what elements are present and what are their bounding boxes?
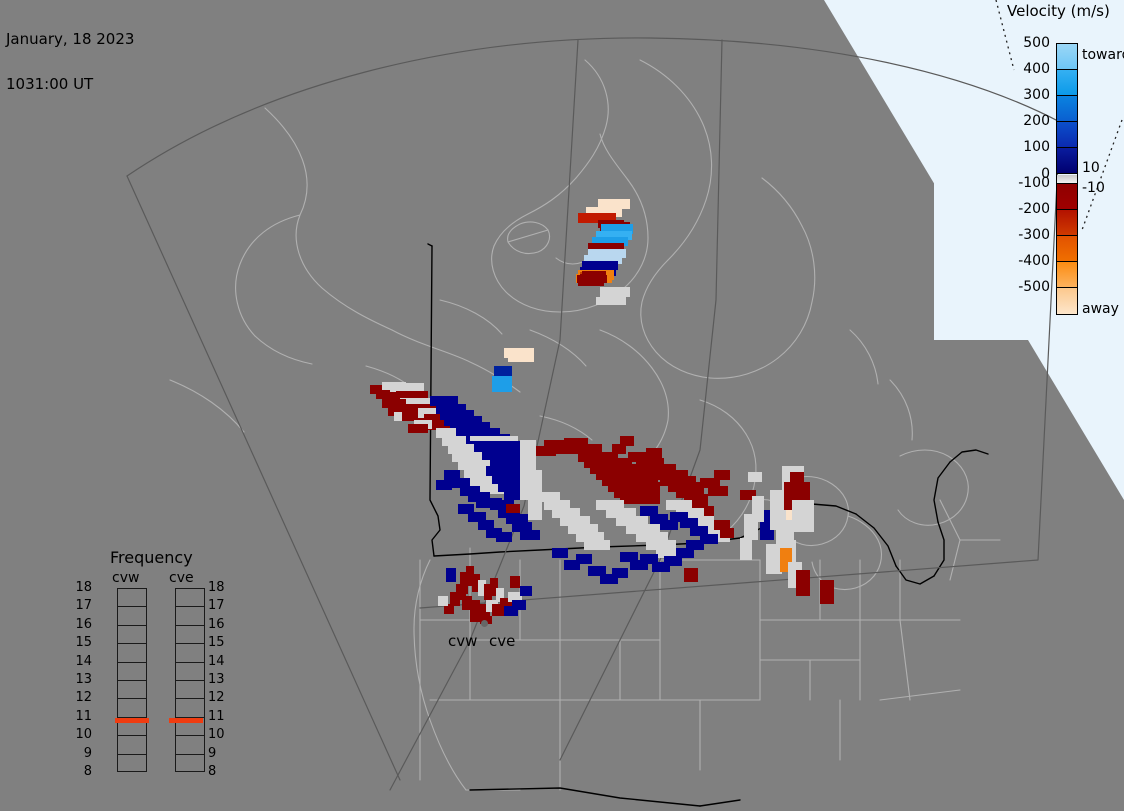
radar-velocity-cells: [0, 0, 1124, 811]
velocity-cell: [552, 548, 568, 558]
velocity-cell: [820, 580, 834, 604]
timestamp-block: January, 18 2023 1031:00 UT: [6, 2, 134, 122]
velocity-cell: [600, 287, 630, 297]
colorbar-segment: [1057, 175, 1077, 184]
frequency-scale-divider: [118, 698, 146, 699]
frequency-tick-label: 13: [208, 672, 236, 687]
velocity-cell: [708, 486, 728, 496]
colorbar-segment: [1057, 148, 1077, 174]
colorbar-tick: -300: [1000, 227, 1050, 243]
velocity-cell: [512, 600, 526, 610]
colorbar-away-label: away: [1082, 301, 1119, 317]
frequency-tick-label: 10: [208, 727, 236, 742]
frequency-tick-label: 18: [208, 580, 236, 595]
frequency-scale-divider: [118, 625, 146, 626]
frequency-tick-label: 11: [64, 709, 92, 724]
frequency-scale-divider: [176, 698, 204, 699]
frequency-tick-label: 16: [208, 617, 236, 632]
frequency-tick-label: 10: [64, 727, 92, 742]
colorbar-near-zero-positive-label: 10: [1082, 160, 1100, 176]
frequency-tick-label: 15: [64, 635, 92, 650]
velocity-cell: [446, 568, 456, 582]
frequency-marker: [169, 718, 203, 723]
velocity-cell: [744, 514, 758, 540]
frequency-tick-label: 8: [208, 764, 236, 779]
frequency-scale-divider: [118, 680, 146, 681]
velocity-cell: [620, 494, 660, 504]
velocity-cell: [408, 424, 428, 433]
colorbar-tick: 200: [1000, 113, 1050, 129]
colorbar-near-zero-negative-label: -10: [1082, 180, 1105, 196]
velocity-cell: [714, 470, 730, 480]
velocity-colorbar: [1056, 43, 1078, 315]
velocity-cell: [577, 275, 607, 283]
velocity-cell: [508, 352, 534, 362]
frequency-tick-label: 12: [208, 690, 236, 705]
frequency-scale-divider: [176, 643, 204, 644]
colorbar-tick: -500: [1000, 279, 1050, 295]
frequency-scale-divider: [118, 754, 146, 755]
colorbar-segment: [1057, 44, 1077, 70]
frequency-column-label-cvw: cvw: [112, 570, 139, 586]
frequency-tick-label: 15: [208, 635, 236, 650]
frequency-scale-divider: [176, 735, 204, 736]
frequency-tick-label: 11: [208, 709, 236, 724]
frequency-tick-label: 18: [64, 580, 92, 595]
radar-site-dot: [481, 620, 488, 627]
colorbar-toward-label: toward: [1082, 47, 1124, 63]
velocity-cell: [686, 540, 704, 550]
colorbar-segment: [1057, 288, 1077, 314]
velocity-cell: [792, 500, 814, 532]
frequency-scale-divider: [118, 735, 146, 736]
colorbar-title: Velocity (m/s): [1007, 2, 1110, 20]
frequency-scale-divider: [118, 606, 146, 607]
colorbar-tick: 500: [1000, 35, 1050, 51]
timestamp-time: 1031:00 UT: [6, 77, 134, 92]
frequency-scale-box: [175, 588, 205, 772]
frequency-legend-title: Frequency: [110, 548, 193, 567]
colorbar-segment: [1057, 210, 1077, 236]
frequency-tick-label: 8: [64, 764, 92, 779]
frequency-tick-label: 9: [64, 746, 92, 761]
frequency-scale-box: [117, 588, 147, 772]
frequency-scale-divider: [118, 662, 146, 663]
velocity-cell: [444, 470, 460, 480]
velocity-map-screenshot: cvw cve January, 18 2023 1031:00 UT Velo…: [0, 0, 1124, 811]
velocity-cell: [458, 504, 474, 514]
velocity-cell: [576, 554, 592, 564]
radar-site-label-cvw: cvw: [448, 632, 477, 650]
velocity-cell: [796, 570, 810, 596]
frequency-tick-label: 12: [64, 690, 92, 705]
colorbar-segment: [1057, 122, 1077, 148]
frequency-marker: [115, 718, 149, 723]
velocity-cell: [740, 538, 752, 560]
frequency-scale-divider: [176, 606, 204, 607]
frequency-tick-label: 17: [64, 598, 92, 613]
velocity-cell: [790, 472, 804, 496]
colorbar-tick: 400: [1000, 61, 1050, 77]
velocity-cell: [496, 532, 512, 542]
velocity-cell: [584, 540, 610, 550]
velocity-cell: [620, 436, 634, 446]
velocity-cell: [596, 297, 626, 305]
frequency-scale-divider: [176, 625, 204, 626]
velocity-cell: [436, 480, 452, 490]
colorbar-segment: [1057, 70, 1077, 96]
colorbar-segment: [1057, 96, 1077, 122]
colorbar-tick: -400: [1000, 253, 1050, 269]
frequency-scale-divider: [176, 662, 204, 663]
colorbar-tick: 100: [1000, 139, 1050, 155]
frequency-scale-divider: [176, 754, 204, 755]
frequency-tick-label: 9: [208, 746, 236, 761]
colorbar-segment: [1057, 184, 1077, 210]
colorbar-tick: -200: [1000, 201, 1050, 217]
frequency-tick-label: 14: [64, 654, 92, 669]
colorbar-segment: [1057, 236, 1077, 262]
velocity-cell: [720, 528, 734, 538]
colorbar-segment: [1057, 262, 1077, 288]
frequency-tick-label: 17: [208, 598, 236, 613]
frequency-tick-label: 16: [64, 617, 92, 632]
radar-site-label-cve: cve: [489, 632, 515, 650]
velocity-cell: [612, 568, 628, 578]
velocity-cell: [520, 530, 540, 540]
velocity-cell: [438, 596, 448, 606]
velocity-cell: [684, 568, 698, 582]
frequency-scale-divider: [176, 680, 204, 681]
frequency-column-label-cve: cve: [169, 570, 194, 586]
velocity-cell: [510, 576, 520, 588]
velocity-cell: [520, 586, 532, 596]
velocity-cell: [646, 448, 662, 458]
velocity-cell: [492, 376, 512, 392]
timestamp-date: January, 18 2023: [6, 32, 134, 47]
velocity-cell: [506, 504, 520, 513]
frequency-scale-divider: [118, 643, 146, 644]
frequency-tick-label: 14: [208, 654, 236, 669]
colorbar-tick: -100: [1000, 175, 1050, 191]
colorbar-tick: 300: [1000, 87, 1050, 103]
frequency-tick-label: 13: [64, 672, 92, 687]
velocity-cell: [748, 472, 762, 482]
